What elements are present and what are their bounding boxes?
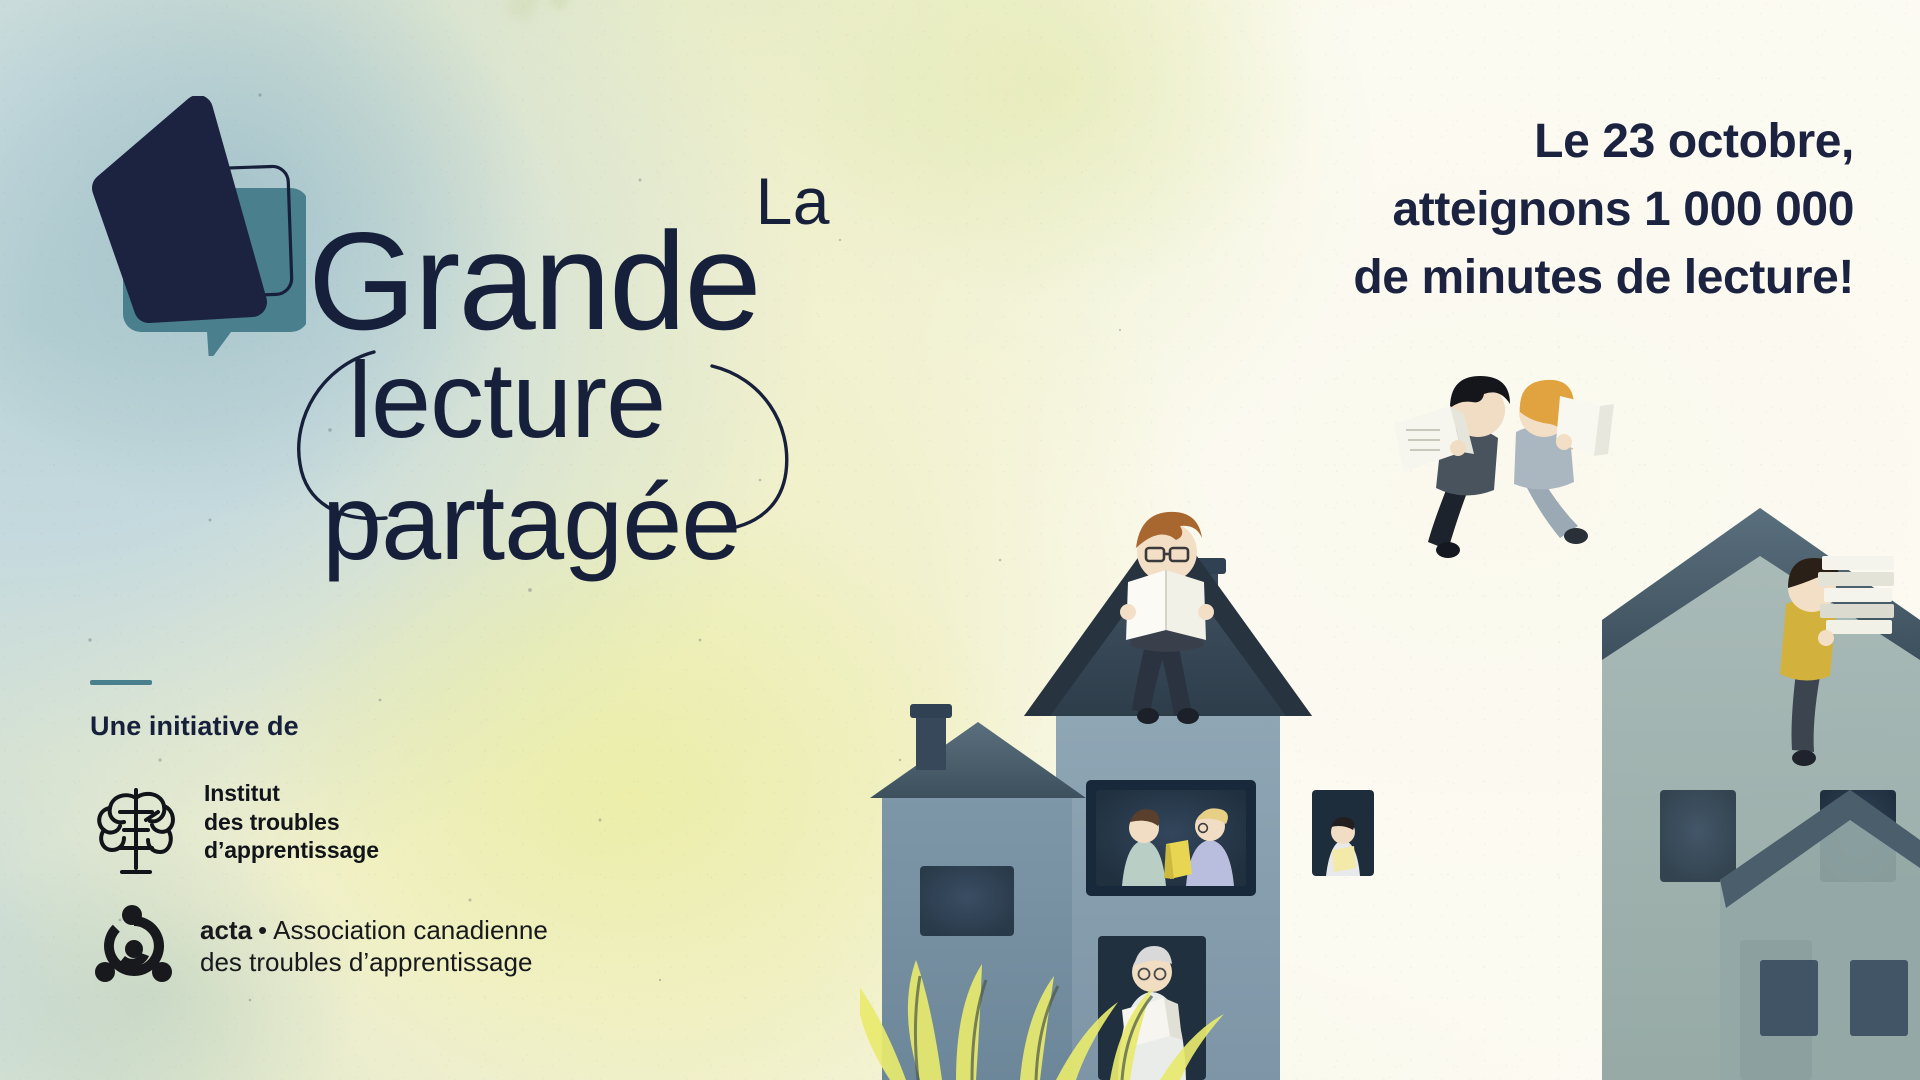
initiative-block: Une initiative de bbox=[90, 680, 710, 1016]
reading-houses-illustration bbox=[860, 320, 1920, 1080]
acta-name-part-1: Association canadienne bbox=[273, 915, 548, 945]
title-word-lecture: lecture bbox=[348, 346, 665, 454]
partner-acta-name: acta•Association canadienne des troubles… bbox=[200, 914, 548, 978]
promotional-banner: La Grande lecture partagée Le 23 octobre… bbox=[0, 0, 1920, 1080]
acta-name-line-1: acta•Association canadienne bbox=[200, 914, 548, 946]
partner-institut[interactable]: Institut des troubles d’apprentissage bbox=[90, 768, 710, 876]
institut-name-line-2: des troubles bbox=[204, 808, 379, 837]
institut-brain-tree-icon bbox=[90, 768, 182, 876]
headline-line-2: atteignons 1 000 000 bbox=[1114, 176, 1854, 244]
navy-book-shape bbox=[107, 110, 252, 308]
girl-reading-book-on-ridge bbox=[1514, 380, 1614, 544]
main-title: La Grande lecture partagée bbox=[300, 150, 940, 570]
grande-lecture-partagee-logo bbox=[86, 96, 306, 356]
institut-name-line-1: Institut bbox=[204, 779, 379, 808]
institut-name-line-3: d’apprentissage bbox=[204, 836, 379, 865]
acta-circle-icon bbox=[90, 902, 178, 990]
boy-reading-newspaper-on-ridge bbox=[1394, 376, 1510, 558]
acta-name-line-2: des troubles d’apprentissage bbox=[200, 946, 548, 978]
acta-separator: • bbox=[258, 915, 267, 945]
title-word-grande: Grande bbox=[308, 212, 760, 351]
headline-line-3: de minutes de lecture! bbox=[1114, 244, 1854, 312]
acta-acronym: acta bbox=[200, 915, 252, 945]
headline-line-1: Le 23 octobre, bbox=[1114, 108, 1854, 176]
campaign-headline: Le 23 octobre, atteignons 1 000 000 de m… bbox=[1114, 108, 1854, 312]
initiative-label: Une initiative de bbox=[90, 711, 710, 742]
divider-rule bbox=[90, 680, 152, 685]
title-word-la: La bbox=[756, 168, 830, 234]
partner-acta[interactable]: acta•Association canadienne des troubles… bbox=[90, 902, 710, 990]
title-word-partagee: partagée bbox=[322, 468, 740, 576]
book-stack bbox=[1818, 556, 1894, 634]
partner-institut-name: Institut des troubles d’apprentissage bbox=[204, 779, 379, 866]
